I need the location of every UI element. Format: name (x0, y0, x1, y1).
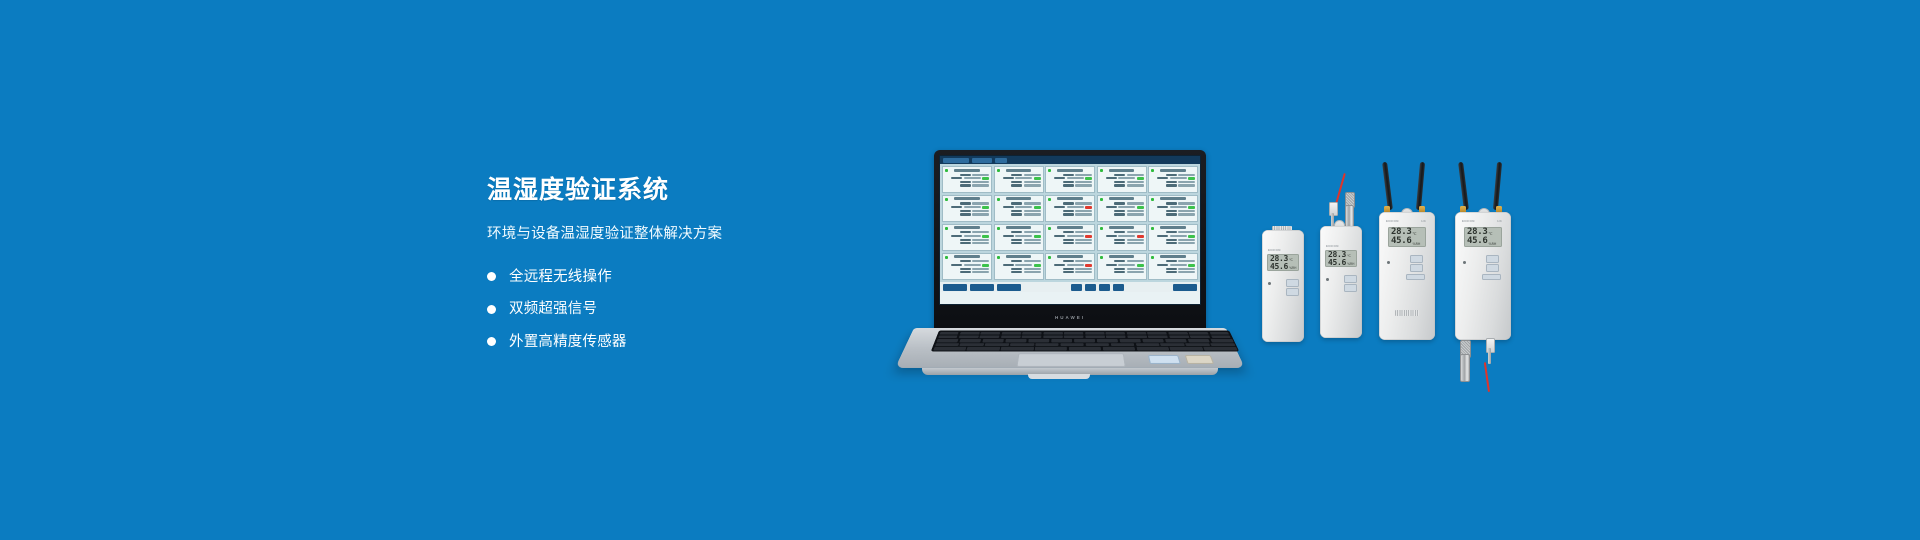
sensor-card-label (1157, 235, 1168, 237)
keyboard-key[interactable] (1110, 343, 1134, 346)
status-badge (1085, 177, 1092, 180)
status-dot-icon (1100, 198, 1103, 201)
status-badge (1085, 206, 1092, 209)
sensor-card-row (997, 235, 1041, 238)
lcd-humidity-line: 45.6 %RH (1467, 237, 1499, 246)
keyboard-key[interactable] (982, 339, 1004, 342)
device-housing: ENCON H3 28.3 ℃ 45.6 %RH (1455, 212, 1511, 340)
sensor-card-value (1075, 213, 1092, 215)
tab-settings[interactable] (995, 158, 1007, 163)
sensor-card[interactable] (1097, 224, 1147, 251)
sensor-card-value (964, 177, 981, 179)
keyboard-key[interactable] (1043, 332, 1062, 335)
sensor-card[interactable] (1097, 253, 1147, 280)
sensor-card-value (1015, 235, 1032, 237)
keyboard-key[interactable] (933, 347, 966, 350)
sensor-card-title (1109, 226, 1135, 229)
keyboard-key[interactable] (1135, 343, 1159, 346)
keyboard-key[interactable] (938, 335, 959, 338)
sensor-card-row (945, 206, 989, 209)
brand-sticker (1185, 355, 1214, 364)
sensor-card-label (1011, 210, 1022, 212)
sensor-card-title (954, 197, 980, 200)
sensor-card-value (1178, 202, 1195, 204)
sensor-card-label (1063, 202, 1074, 204)
status-badge (982, 177, 989, 180)
keyboard-key[interactable] (1185, 343, 1210, 346)
keyboard-key[interactable] (1085, 343, 1109, 346)
sensor-card-label (1063, 260, 1074, 262)
sensor-card-row (1048, 231, 1092, 233)
sensor-card-label (1063, 268, 1074, 270)
sensor-card[interactable] (994, 224, 1044, 251)
lcd-display: 28.3 ℃ 45.6 %RH (1464, 227, 1502, 247)
sensor-card-row (997, 239, 1041, 241)
sensor-card[interactable] (1045, 224, 1095, 251)
sensor-card-value (1024, 271, 1041, 273)
status-badge (1034, 206, 1041, 209)
laptop-lid: HUAWEI (934, 150, 1206, 332)
keyboard-key[interactable] (1209, 332, 1230, 335)
sensor-card-label (1063, 213, 1074, 215)
sensor-card-row (1100, 231, 1144, 233)
sensor-card-value (1170, 206, 1187, 208)
tab-realtime[interactable] (943, 158, 969, 163)
sensor-card-label (1114, 268, 1125, 270)
pagination-page-2[interactable] (1099, 284, 1110, 291)
sensor-card-row (945, 264, 989, 267)
keyboard-key[interactable] (1188, 339, 1210, 342)
sensor-card-row (1048, 213, 1092, 215)
status-dot-icon (997, 227, 1000, 230)
sensor-card-value (1127, 239, 1144, 241)
sensor-card-row (997, 264, 1041, 267)
sensor-card[interactable] (1045, 253, 1095, 280)
sensor-card-value (1075, 202, 1092, 204)
sensor-card-label (1114, 210, 1125, 212)
tab-history[interactable] (972, 158, 992, 163)
vent-grille-icon (1395, 310, 1419, 316)
device-button-down[interactable] (1410, 264, 1423, 272)
laptop-deck (895, 328, 1245, 368)
sensor-card-label (1011, 213, 1022, 215)
sensor-card[interactable] (1097, 195, 1147, 222)
device-button-down[interactable] (1344, 284, 1357, 292)
status-badge (1034, 235, 1041, 238)
sensor-card-row (945, 210, 989, 212)
sensor-card-label (1166, 271, 1177, 273)
humidity-value: 45.6 (1391, 237, 1411, 246)
sensor-card-label (951, 235, 962, 237)
pagination-next[interactable] (1113, 284, 1124, 291)
sensor-card-value (1024, 174, 1041, 176)
sensor-card-row (1100, 210, 1144, 212)
sensor-card-label (1157, 264, 1168, 266)
laptop-keyboard[interactable] (931, 330, 1239, 351)
sensor-card-row (1151, 271, 1195, 273)
sensor-card-value (1075, 231, 1092, 233)
humidity-unit: %RH (1488, 243, 1496, 246)
probe-metal-tube (1460, 354, 1470, 382)
sensor-card[interactable] (1148, 253, 1198, 280)
probe-cable (1484, 362, 1490, 392)
sensor-card[interactable] (994, 253, 1044, 280)
keyboard-key[interactable] (1188, 332, 1208, 335)
sensor-device-3: ENCON H3 28.3 ℃ 45.6 %RH (1374, 162, 1446, 346)
status-led-icon (1326, 278, 1329, 281)
sensor-card-title (1109, 197, 1135, 200)
device-button-up[interactable] (1344, 275, 1357, 283)
status-dot-icon (1048, 256, 1051, 259)
sensor-card-row (1048, 177, 1092, 180)
sensor-card-label (960, 202, 971, 204)
keyboard-key[interactable] (1022, 335, 1042, 338)
sensor-card-value (1075, 174, 1092, 176)
sensor-card[interactable] (994, 166, 1044, 193)
keyboard-key[interactable] (1074, 339, 1095, 342)
sensor-card-row (1048, 268, 1092, 270)
device-button-enter[interactable] (1482, 274, 1501, 280)
sensor-card-row (997, 213, 1041, 215)
sensor-card-label (1003, 235, 1014, 237)
keyboard-key[interactable] (1001, 335, 1021, 338)
keyboard-key[interactable] (1035, 343, 1059, 346)
keyboard-row (936, 339, 1233, 342)
pagination-prev[interactable] (1071, 284, 1082, 291)
sensor-card-title (1006, 197, 1032, 200)
feature-list: 全远程无线操作 双频超强信号 外置高精度传感器 (487, 270, 817, 350)
sensor-card-label (1106, 206, 1117, 208)
sensor-card-label (1011, 184, 1022, 186)
device-button-up[interactable] (1410, 255, 1423, 263)
device-logo: ENCON (1268, 248, 1281, 252)
device-button-up[interactable] (1286, 279, 1299, 287)
sensor-card-label (1011, 260, 1022, 262)
page-title: 温湿度验证系统 (487, 176, 817, 205)
brand-logo: HUAWEI (1055, 315, 1085, 320)
keyboard-key[interactable] (981, 332, 1001, 335)
sensor-card-value (972, 174, 989, 176)
keyboard-key[interactable] (1102, 347, 1135, 350)
sensor-card-row (1151, 210, 1195, 212)
sensor-card-title (954, 255, 980, 258)
keyboard-key[interactable] (1142, 339, 1164, 342)
sensor-card-row (1151, 260, 1195, 262)
sensor-card-label (1114, 242, 1125, 244)
status-badge (1188, 206, 1195, 209)
sensor-card-row (1048, 271, 1092, 273)
keyboard-key[interactable] (1022, 332, 1042, 335)
keyboard-key[interactable] (1035, 347, 1067, 350)
keyboard-key[interactable] (1028, 339, 1050, 342)
keyboard-key[interactable] (1069, 347, 1101, 350)
keyboard-key[interactable] (939, 332, 959, 335)
sensor-card-label (1114, 181, 1125, 183)
sensor-card[interactable] (942, 253, 992, 280)
sensor-card-label (1011, 242, 1022, 244)
keyboard-key[interactable] (1043, 335, 1063, 338)
sensor-card-title (1057, 197, 1083, 200)
sensor-card-value (1127, 213, 1144, 215)
keyboard-row (934, 343, 1235, 346)
keyboard-key[interactable] (967, 347, 1000, 350)
sensor-card-row (1048, 174, 1092, 176)
sensor-card-title (1109, 255, 1135, 258)
keyboard-key[interactable] (1127, 335, 1147, 338)
sensor-card[interactable] (1045, 166, 1095, 193)
sensor-card-row (997, 260, 1041, 262)
keyboard-key[interactable] (960, 343, 984, 346)
keyboard-key[interactable] (1064, 335, 1084, 338)
sensor-card-row (1151, 202, 1195, 204)
laptop-trackpad[interactable] (1016, 353, 1126, 367)
humidity-unit: %RH (1347, 263, 1354, 266)
sensor-card-value (1024, 268, 1041, 270)
antenna-left-icon (1458, 162, 1469, 210)
sensor-card-row (945, 181, 989, 183)
sensor-card-value (1127, 184, 1144, 186)
status-dot-icon (1151, 198, 1154, 201)
sensor-card-row (997, 174, 1041, 176)
status-led-icon (1268, 282, 1271, 285)
dashboard-toolbar (940, 282, 1200, 292)
sensor-card-label (1106, 177, 1117, 179)
keyboard-key[interactable] (1136, 347, 1169, 350)
keyboard-key[interactable] (1210, 343, 1235, 346)
keyboard-key[interactable] (959, 335, 979, 338)
sensor-card-row (997, 177, 1041, 180)
sensor-card-row (945, 242, 989, 244)
sensor-card-value (1067, 264, 1084, 266)
antenna-right-icon (1416, 162, 1425, 210)
sensor-card-value (972, 271, 989, 273)
sensor-card-label (1063, 239, 1074, 241)
product-photo: HUAWEI ENCON 28.3 (880, 150, 1580, 440)
sensor-card[interactable] (942, 166, 992, 193)
sensor-card-label (951, 206, 962, 208)
keyboard-key[interactable] (1005, 339, 1027, 342)
sensor-card-value (972, 242, 989, 244)
laptop-base (900, 328, 1240, 380)
sensor-card[interactable] (1148, 224, 1198, 251)
keyboard-key[interactable] (1051, 339, 1072, 342)
sensor-card-label (1166, 184, 1177, 186)
pagination-page-1[interactable] (1085, 284, 1096, 291)
keyboard-key[interactable] (1085, 335, 1105, 338)
keyboard-key[interactable] (1168, 332, 1188, 335)
sensor-card-label (1063, 174, 1074, 176)
sensor-card-value (1118, 177, 1135, 179)
bullet-icon (487, 305, 496, 314)
sensor-card-row (1151, 174, 1195, 176)
sensor-card[interactable] (1148, 166, 1198, 193)
sensor-card-label (1003, 206, 1014, 208)
status-dot-icon (997, 169, 1000, 172)
status-dot-icon (945, 169, 948, 172)
sensor-card-row (1151, 213, 1195, 215)
sensor-card-row (997, 242, 1041, 244)
sensor-card-row (1048, 235, 1092, 238)
keyboard-key[interactable] (1169, 335, 1189, 338)
keyboard-key[interactable] (985, 343, 1009, 346)
sensor-card-value (1127, 181, 1144, 183)
sensor-card-row (1100, 177, 1144, 180)
feature-label: 双频超强信号 (509, 302, 597, 317)
sensor-card[interactable] (1148, 195, 1198, 222)
keyboard-key[interactable] (1203, 347, 1237, 350)
sensor-card-row (945, 235, 989, 238)
device-button-up[interactable] (1486, 255, 1499, 263)
keyboard-key[interactable] (1002, 332, 1022, 335)
sensor-card-title (1109, 169, 1135, 172)
status-dot-icon (1100, 169, 1103, 172)
keyboard-key[interactable] (1106, 332, 1126, 335)
sensor-card-label (1166, 202, 1177, 204)
sensor-card-row (1048, 260, 1092, 262)
keyboard-key[interactable] (1085, 332, 1104, 335)
sensor-card-value (1178, 210, 1195, 212)
device-button-enter[interactable] (1406, 274, 1425, 280)
sensor-card-row (945, 260, 989, 262)
toolbar-button-export[interactable] (970, 284, 994, 291)
status-dot-icon (1100, 256, 1103, 259)
probe-cable (1335, 173, 1345, 204)
keyboard-key[interactable] (1010, 343, 1034, 346)
keyboard-key[interactable] (1064, 332, 1083, 335)
keyboard-key[interactable] (934, 343, 959, 346)
keyboard-key[interactable] (1211, 339, 1234, 342)
status-led-icon (1387, 261, 1390, 264)
sensor-card-label (1063, 231, 1074, 233)
laptop-screen (939, 155, 1201, 305)
status-badge (1188, 264, 1195, 267)
keyboard-key[interactable] (1126, 332, 1146, 335)
sensor-card-value (1024, 210, 1041, 212)
sensor-card-label (960, 268, 971, 270)
sensor-device-2: ENCON 28.3 ℃ 45.6 %RH (1314, 172, 1372, 344)
sensor-card-row (997, 184, 1041, 186)
sensor-card[interactable] (1045, 195, 1095, 222)
sensor-card-row (1151, 239, 1195, 241)
keyboard-key[interactable] (936, 339, 958, 342)
sensor-card[interactable] (994, 195, 1044, 222)
sensor-card-title (954, 169, 980, 172)
sensor-card-row (1100, 206, 1144, 209)
keyboard-key[interactable] (1119, 339, 1141, 342)
sensor-card-value (1024, 181, 1041, 183)
keyboard-key[interactable] (959, 339, 981, 342)
sensor-card-label (1054, 235, 1065, 237)
status-dot-icon (997, 198, 1000, 201)
device-button-down[interactable] (1486, 264, 1499, 272)
keyboard-key[interactable] (960, 332, 980, 335)
sensor-card-row (1048, 264, 1092, 267)
sensor-card-row (945, 184, 989, 186)
status-dot-icon (1151, 227, 1154, 230)
laptop-device: HUAWEI (900, 150, 1240, 380)
keyboard-key[interactable] (980, 335, 1000, 338)
status-dot-icon (945, 256, 948, 259)
sensor-card-value (972, 210, 989, 212)
keyboard-key[interactable] (1148, 335, 1168, 338)
sensor-card-label (1011, 174, 1022, 176)
sensor-card-label (1063, 181, 1074, 183)
sensor-card-row (1048, 210, 1092, 212)
toolbar-button-delete[interactable] (997, 284, 1021, 291)
sensor-card-value (972, 268, 989, 270)
sensor-card-value (1178, 181, 1195, 183)
status-badge (1085, 235, 1092, 238)
sensor-card-value (1127, 268, 1144, 270)
sensor-card-row (1151, 184, 1195, 186)
sensor-card-value (1178, 271, 1195, 273)
sensor-card-title (1006, 226, 1032, 229)
keyboard-key[interactable] (1060, 343, 1084, 346)
keyboard-key[interactable] (1147, 332, 1167, 335)
list-item: 双频超强信号 (487, 302, 817, 317)
sensor-card-value (1118, 264, 1135, 266)
device-model: H3 (1421, 219, 1426, 223)
sensor-card-row (945, 202, 989, 204)
sensor-card-row (1048, 202, 1092, 204)
sensor-device-1: ENCON 28.3 ℃ 45.6 %RH (1258, 226, 1308, 344)
keyboard-key[interactable] (1170, 347, 1203, 350)
sensor-card[interactable] (1097, 166, 1147, 193)
sensor-card-label (1166, 174, 1177, 176)
device-model: H3 (1497, 219, 1502, 223)
keyboard-key[interactable] (1165, 339, 1187, 342)
device-housing: ENCON 28.3 ℃ 45.6 %RH (1320, 226, 1362, 338)
sensor-card[interactable] (942, 224, 992, 251)
keyboard-key[interactable] (1211, 335, 1232, 338)
sensor-card-row (997, 181, 1041, 183)
sensor-card-label (1106, 264, 1117, 266)
toolbar-button-back[interactable] (1173, 284, 1197, 291)
sensor-card-label (1114, 231, 1125, 233)
sensor-card[interactable] (942, 195, 992, 222)
status-badge (1137, 206, 1144, 209)
keyboard-key[interactable] (1097, 339, 1119, 342)
keyboard-key[interactable] (1106, 335, 1126, 338)
status-badge (1137, 177, 1144, 180)
sensor-card-value (972, 184, 989, 186)
status-dot-icon (1100, 227, 1103, 230)
sensor-card-row (1151, 264, 1195, 267)
sensor-card-label (960, 239, 971, 241)
device-logo: ENCON (1462, 219, 1475, 223)
list-item: 全远程无线操作 (487, 270, 817, 285)
sensor-card-label (1166, 242, 1177, 244)
sensor-card-title (1057, 169, 1083, 172)
toolbar-button-add[interactable] (943, 284, 967, 291)
sensor-card-label (960, 174, 971, 176)
sensor-card-title (1160, 197, 1186, 200)
keyboard-key[interactable] (1160, 343, 1184, 346)
sensor-card-value (1024, 202, 1041, 204)
sensor-card-label (1003, 177, 1014, 179)
status-badge (1188, 177, 1195, 180)
sensor-card-value (1127, 271, 1144, 273)
sensor-card-label (960, 184, 971, 186)
device-button-down[interactable] (1286, 288, 1299, 296)
keyboard-key[interactable] (1001, 347, 1034, 350)
sensor-card-value (1024, 239, 1041, 241)
keyboard-key[interactable] (1190, 335, 1211, 338)
status-dot-icon (1048, 169, 1051, 172)
sensor-device-4: ENCON H3 28.3 ℃ 45.6 %RH (1450, 162, 1524, 402)
status-badge (1137, 235, 1144, 238)
sensor-card-row (1151, 177, 1195, 180)
